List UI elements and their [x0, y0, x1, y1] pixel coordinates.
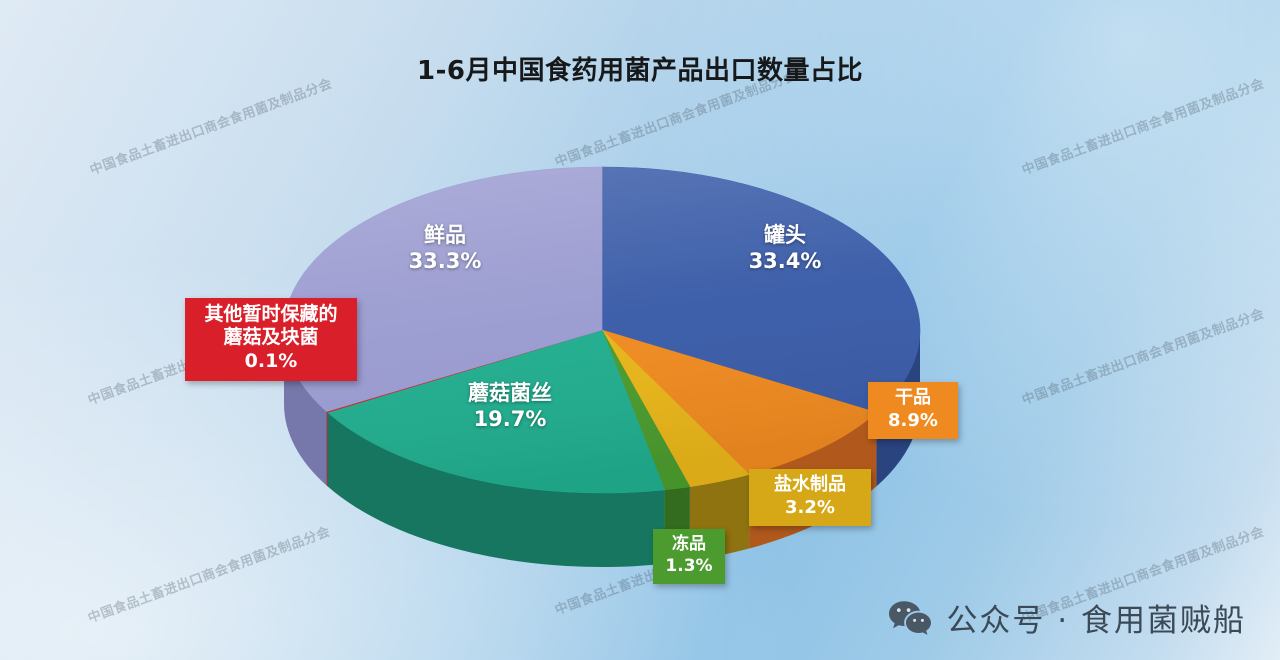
- footer-brand: 公众号 · 食用菌贼船: [888, 595, 1246, 640]
- callout-other-name-line1: 其他暂时保藏的: [194, 303, 348, 326]
- callout-brine-name: 盐水制品: [758, 474, 862, 496]
- callout-frozen: 冻品 1.3%: [653, 529, 725, 584]
- callout-other-value: 0.1%: [194, 349, 348, 374]
- callout-dried-value: 8.9%: [877, 409, 949, 432]
- callout-frozen-name: 冻品: [662, 534, 716, 555]
- callout-brine-value: 3.2%: [758, 496, 862, 519]
- wechat-icon: [888, 600, 932, 636]
- callout-other-name-line2: 蘑菇及块菌: [194, 326, 348, 349]
- callout-dried: 干品 8.9%: [868, 382, 958, 439]
- chart-title: 1-6月中国食药用菌产品出口数量占比: [0, 50, 1280, 87]
- callout-dried-name: 干品: [877, 387, 949, 409]
- callout-brine: 盐水制品 3.2%: [749, 469, 871, 526]
- callout-other-preserved: 其他暂时保藏的 蘑菇及块菌 0.1%: [185, 298, 357, 381]
- callout-frozen-value: 1.3%: [662, 555, 716, 577]
- chart-canvas: 中国食品土畜进出口商会食用菌及制品分会 中国食品土畜进出口商会食用菌及制品分会 …: [0, 0, 1280, 660]
- footer-brand-text: 公众号 · 食用菌贼船: [946, 595, 1246, 640]
